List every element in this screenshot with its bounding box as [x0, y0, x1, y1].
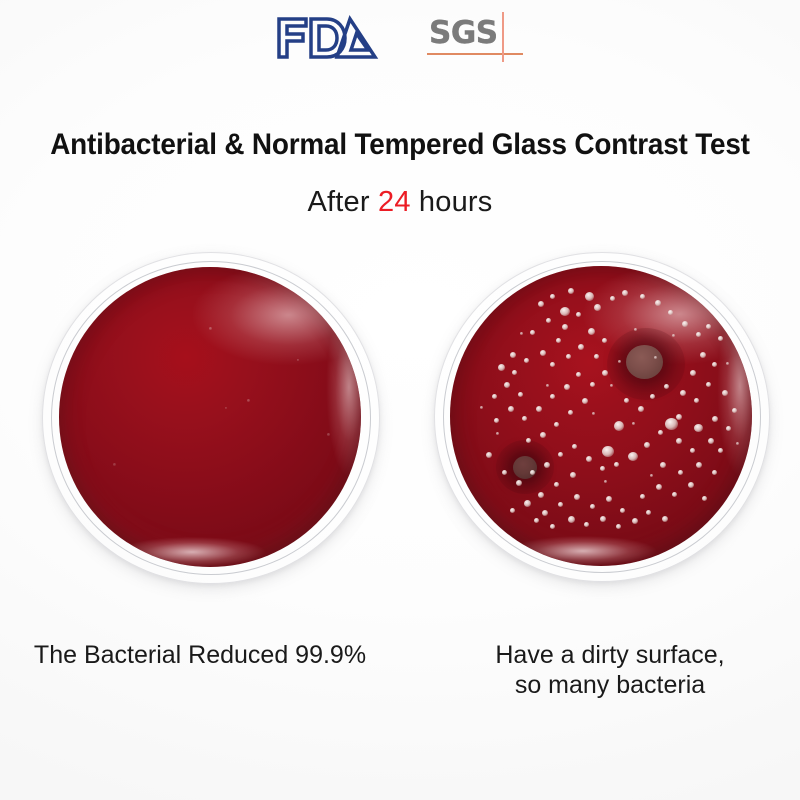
- colony-speck: [650, 474, 653, 477]
- colony: [718, 336, 723, 341]
- colony: [554, 482, 559, 487]
- colony: [614, 421, 624, 431]
- colony: [640, 294, 645, 299]
- colony: [522, 416, 527, 421]
- colony: [508, 406, 514, 412]
- colony: [624, 398, 629, 403]
- colony: [530, 470, 535, 475]
- colony: [568, 410, 573, 415]
- colony: [542, 510, 548, 516]
- poster-canvas: SGS Antibacterial & Normal Tempered Glas…: [0, 0, 800, 800]
- agar-surface-normal: [450, 266, 752, 566]
- colony-speck: [726, 362, 729, 365]
- colony: [688, 482, 694, 488]
- sgs-vertical-rule-icon: [502, 12, 504, 62]
- colony-speck: [327, 433, 330, 436]
- colony: [572, 444, 577, 449]
- colony: [632, 518, 638, 524]
- agar-highlight-right: [59, 267, 361, 567]
- colony: [722, 390, 728, 396]
- colony: [540, 350, 546, 356]
- colony: [590, 382, 595, 387]
- colony: [568, 288, 574, 294]
- colony: [566, 354, 571, 359]
- colony: [668, 310, 673, 315]
- colony: [650, 394, 655, 399]
- colony: [594, 354, 599, 359]
- colony: [644, 442, 650, 448]
- colony: [712, 416, 718, 422]
- colony: [616, 524, 621, 529]
- colony: [672, 492, 677, 497]
- colony: [620, 508, 625, 513]
- colony-speck: [209, 327, 212, 330]
- colony-speck: [496, 432, 499, 435]
- colony: [664, 384, 669, 389]
- colony: [558, 452, 563, 457]
- sgs-logo-text: SGS: [429, 16, 498, 50]
- colony-speck: [736, 442, 739, 445]
- colony: [690, 370, 696, 376]
- colony: [658, 430, 663, 435]
- colony: [600, 516, 606, 522]
- colony: [486, 452, 492, 458]
- colony-speck: [247, 399, 250, 402]
- colony-speck: [592, 412, 595, 415]
- colony: [602, 370, 608, 376]
- colony: [524, 358, 529, 363]
- colony: [516, 480, 522, 486]
- colony: [546, 318, 551, 323]
- colony: [655, 300, 661, 306]
- colony: [712, 470, 717, 475]
- colony: [614, 462, 619, 467]
- colony: [504, 382, 510, 388]
- colony: [726, 426, 731, 431]
- colony-speck: [297, 359, 299, 361]
- colony: [656, 484, 662, 490]
- colony: [556, 338, 561, 343]
- petri-dish-normal: [434, 252, 770, 582]
- colony-speck: [113, 463, 116, 466]
- colony: [524, 500, 531, 507]
- colony: [582, 398, 588, 404]
- colony: [564, 384, 570, 390]
- poster-title: Antibacterial & Normal Tempered Glass Co…: [28, 128, 772, 162]
- colony-speck: [610, 384, 613, 387]
- colony: [512, 370, 517, 375]
- colony: [718, 448, 723, 453]
- certification-logo-bar: SGS: [0, 6, 800, 68]
- subtitle-suffix: hours: [411, 186, 493, 218]
- colony: [696, 332, 701, 337]
- agar-surface-antibacterial: [59, 267, 361, 567]
- colony: [558, 502, 563, 507]
- colony: [554, 422, 559, 427]
- colony: [732, 408, 737, 413]
- colony: [694, 424, 703, 432]
- colony: [706, 324, 711, 329]
- colony: [678, 470, 683, 475]
- colony-speck: [618, 360, 621, 363]
- colony: [682, 321, 688, 327]
- colony: [526, 438, 531, 443]
- colony: [534, 518, 539, 523]
- agar-highlight-top: [450, 266, 752, 566]
- colony: [694, 398, 699, 403]
- colony: [708, 438, 714, 444]
- subtitle-hours-value: 24: [378, 186, 411, 218]
- caption-antibacterial: The Bacterial Reduced 99.9%: [0, 640, 400, 670]
- colony: [550, 362, 555, 367]
- colony: [588, 328, 595, 335]
- colony-speck: [654, 356, 657, 359]
- colony-large-dark: [626, 345, 663, 379]
- colony: [628, 452, 638, 461]
- colony-speck: [520, 332, 523, 335]
- colony: [568, 516, 575, 523]
- colony-speck: [672, 334, 675, 337]
- agar-highlight-top: [59, 267, 361, 567]
- fda-logo: [275, 13, 379, 61]
- colony: [576, 372, 581, 377]
- caption-normal: Have a dirty surface, so many bacteria: [420, 640, 800, 700]
- colony: [492, 394, 497, 399]
- colony-speck: [480, 406, 483, 409]
- colony: [584, 522, 589, 527]
- colony: [510, 508, 515, 513]
- colony: [602, 338, 607, 343]
- fda-logo-icon: [275, 13, 379, 61]
- colony-speck: [546, 384, 549, 387]
- agar-highlight-right: [450, 266, 752, 566]
- colony: [560, 307, 570, 316]
- subtitle-prefix: After: [308, 186, 379, 218]
- colony: [570, 472, 576, 478]
- colony: [574, 494, 580, 500]
- poster-subtitle: After 24 hours: [0, 186, 800, 219]
- colony: [606, 496, 612, 502]
- colony: [600, 466, 605, 471]
- colony: [638, 406, 644, 412]
- colony: [538, 301, 544, 307]
- sgs-logo: SGS: [425, 12, 525, 62]
- colony: [538, 492, 544, 498]
- colony: [702, 496, 707, 501]
- colony: [536, 406, 542, 412]
- colony: [550, 394, 555, 399]
- colony: [494, 418, 499, 423]
- colony-large-dark: [513, 456, 537, 479]
- colony: [690, 448, 695, 453]
- petri-dish-antibacterial: [42, 252, 380, 584]
- colony: [562, 324, 568, 330]
- colony: [676, 438, 682, 444]
- colony-speck: [225, 407, 227, 409]
- sgs-horizontal-rule-icon: [427, 53, 523, 55]
- colony: [502, 470, 507, 475]
- colony-halo: [496, 440, 554, 494]
- colony: [550, 524, 555, 529]
- colony: [700, 352, 706, 358]
- colony: [590, 504, 595, 509]
- colony: [696, 462, 702, 468]
- colony: [660, 462, 666, 468]
- colony: [646, 510, 651, 515]
- colony: [576, 312, 581, 317]
- colony: [610, 296, 615, 301]
- colony: [585, 292, 594, 301]
- colony: [712, 362, 717, 367]
- colony-speck: [634, 328, 637, 331]
- colony: [510, 352, 516, 358]
- colony-speck: [604, 480, 607, 483]
- colony-halo: [607, 328, 685, 400]
- colony-speck: [632, 422, 635, 425]
- colony: [498, 364, 505, 371]
- colony: [586, 456, 592, 462]
- colony: [594, 304, 601, 311]
- colony: [622, 290, 628, 296]
- colony: [540, 432, 546, 438]
- colony: [530, 330, 535, 335]
- colony: [578, 344, 584, 350]
- colony: [706, 382, 711, 387]
- agar-highlight-bottom: [450, 266, 752, 566]
- colony: [665, 418, 678, 430]
- colony: [550, 294, 555, 299]
- agar-highlight-bottom: [59, 267, 361, 567]
- colony: [602, 446, 614, 457]
- colony: [544, 462, 550, 468]
- colony: [662, 516, 668, 522]
- colony: [676, 414, 682, 420]
- colony: [518, 392, 523, 397]
- colony: [680, 390, 686, 396]
- colony: [640, 494, 645, 499]
